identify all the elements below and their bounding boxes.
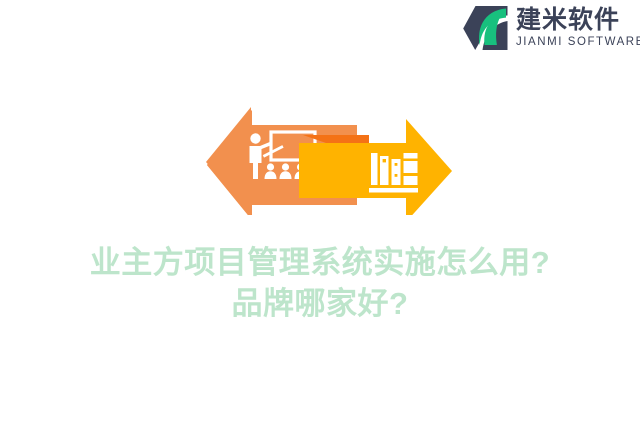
jianmi-hexagon-leaf-logo-icon (462, 5, 510, 51)
headline-line-1: 业主方项目管理系统实施怎么用? (0, 242, 640, 283)
brand-wordmark: 建米软件 JIANMI SOFTWARE (516, 8, 640, 49)
page-canvas: 建米软件 JIANMI SOFTWARE (0, 0, 640, 427)
headline-line-2: 品牌哪家好? (0, 283, 640, 324)
brand-name-cn: 建米软件 (516, 8, 640, 33)
brand-name-en: JIANMI SOFTWARE (516, 37, 640, 49)
brand-logo[interactable]: 建米软件 JIANMI SOFTWARE (462, 2, 638, 54)
bidirectional-arrows-illustration (203, 105, 453, 215)
page-headline: 业主方项目管理系统实施怎么用? 品牌哪家好? (0, 242, 640, 324)
